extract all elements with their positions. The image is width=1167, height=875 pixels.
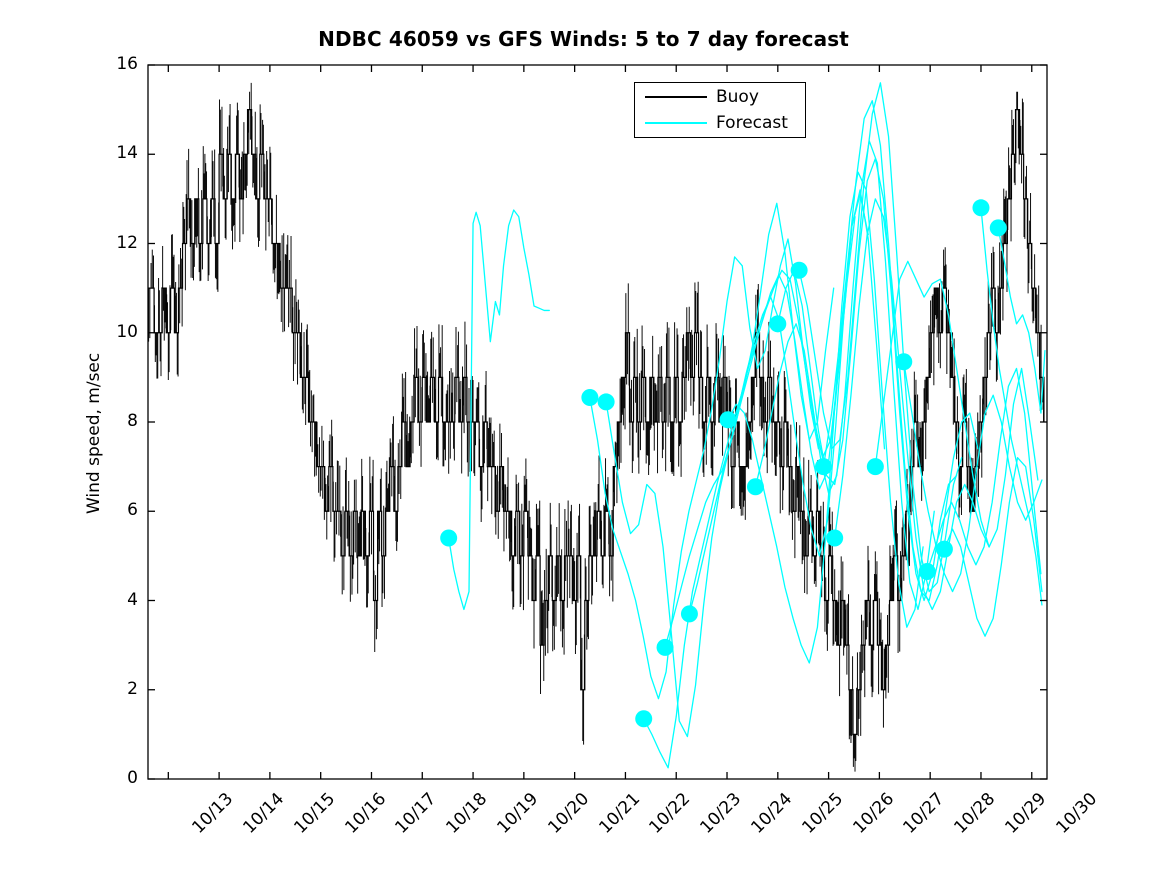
axes-frame — [148, 65, 1047, 779]
forecast-start-marker — [867, 458, 884, 475]
buoy-series-line — [148, 110, 1044, 735]
forecast-start-marker — [440, 530, 457, 547]
forecast-start-marker — [815, 458, 832, 475]
y-tick-label: 16 — [96, 54, 138, 74]
series-layer — [148, 83, 1044, 772]
chart-figure: NDBC 46059 vs GFS Winds: 5 to 7 day fore… — [0, 0, 1167, 875]
forecast-start-marker — [581, 389, 598, 406]
forecast-start-marker — [990, 219, 1007, 236]
y-tick-label: 0 — [96, 768, 138, 788]
forecast-start-marker — [747, 478, 764, 495]
legend-entry-forecast: Forecast — [635, 110, 805, 136]
forecast-run-line — [998, 228, 1045, 413]
y-tick-label: 12 — [96, 233, 138, 253]
y-tick-label: 8 — [96, 411, 138, 431]
forecast-run-line — [755, 141, 934, 610]
forecast-start-marker — [826, 530, 843, 547]
y-tick-label: 10 — [96, 322, 138, 342]
forecast-start-marker — [791, 262, 808, 279]
legend-label-buoy: Buoy — [716, 89, 759, 106]
legend-swatch-buoy — [645, 96, 707, 98]
y-tick-label: 6 — [96, 500, 138, 520]
forecast-start-marker — [657, 639, 674, 656]
buoy-series-jitter — [149, 83, 1044, 772]
legend-label-forecast: Forecast — [716, 115, 788, 132]
y-tick-label: 4 — [96, 590, 138, 610]
legend-swatch-forecast — [645, 122, 707, 124]
forecast-start-marker — [769, 315, 786, 332]
plot-canvas — [0, 0, 1167, 875]
forecast-run-line — [606, 203, 834, 736]
forecast-start-marker — [720, 411, 737, 428]
legend-entry-buoy: Buoy — [635, 84, 805, 110]
y-tick-label: 2 — [96, 679, 138, 699]
forecast-start-marker — [681, 605, 698, 622]
forecast-run-line — [824, 101, 978, 601]
forecast-start-marker — [936, 541, 953, 558]
forecast-start-marker — [635, 710, 652, 727]
axes-layer — [148, 65, 1047, 779]
forecast-start-marker — [598, 393, 615, 410]
forecast-start-marker — [919, 563, 936, 580]
y-tick-label: 14 — [96, 143, 138, 163]
legend: Buoy Forecast — [634, 82, 806, 138]
forecast-start-marker — [972, 199, 989, 216]
forecast-start-marker — [895, 353, 912, 370]
